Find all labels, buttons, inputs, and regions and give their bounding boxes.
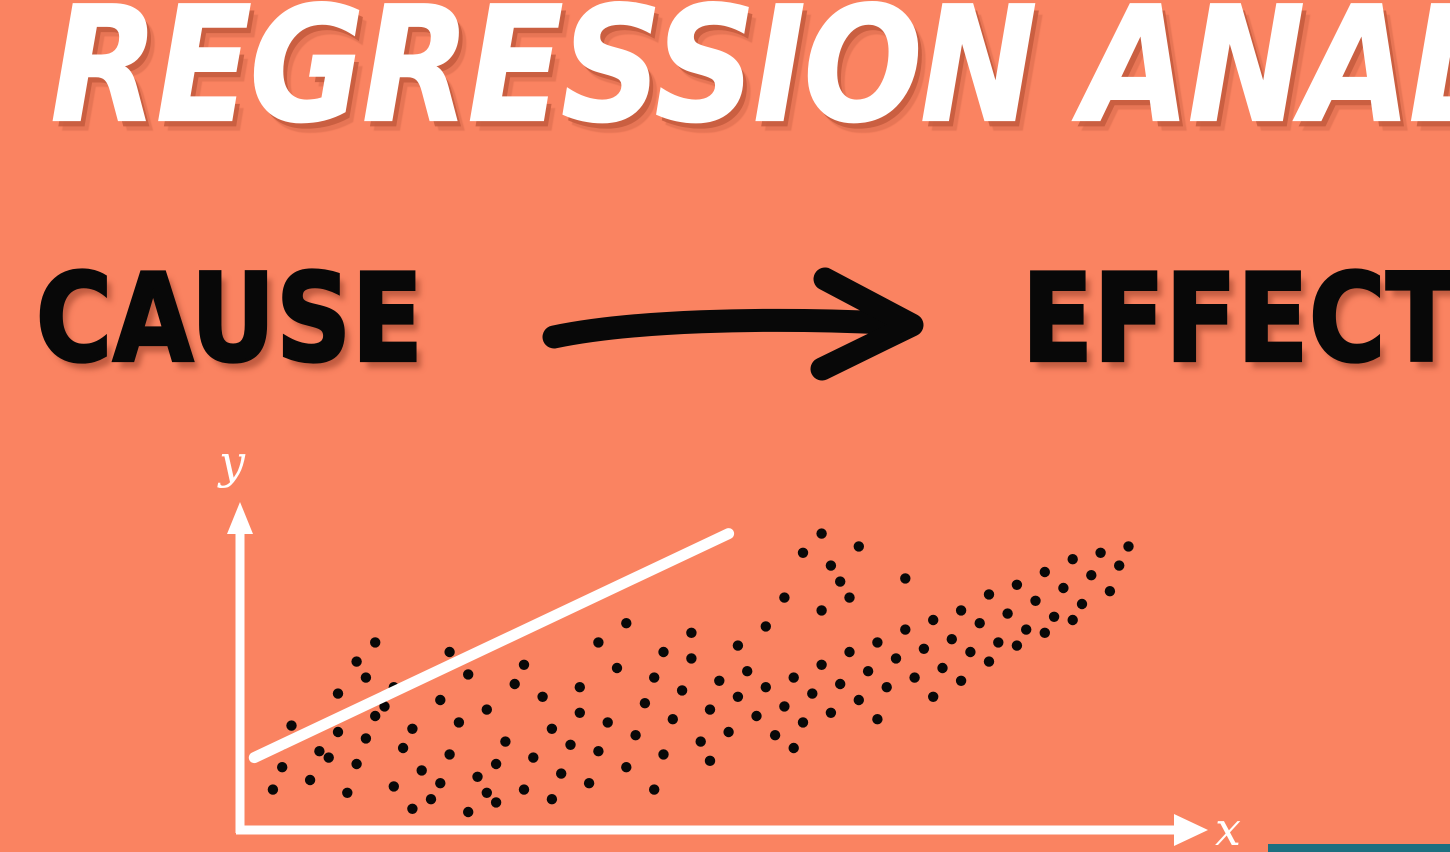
scatter-point [975,618,985,628]
scatter-point [426,794,436,804]
scatter-point [1021,624,1031,634]
regression-trendline [254,534,728,758]
scatter-point [537,692,547,702]
scatter-point [621,618,631,628]
scatter-point [789,672,799,682]
scatter-point [593,746,603,756]
scatter-point [705,756,715,766]
scatter-point [751,711,761,721]
scatter-point [779,701,789,711]
right-arrow-icon [540,263,940,383]
scatter-point [314,746,324,756]
scatter-point [677,685,687,695]
scatter-point [909,672,919,682]
scatter-point [807,688,817,698]
scatter-point [556,768,566,778]
scatter-point [612,663,622,673]
scatter-point [816,528,826,538]
scatter-point [491,759,501,769]
scatter-plot: y x [190,430,1270,852]
scatter-point [370,637,380,647]
scatter-point [324,752,334,762]
scatter-point [798,717,808,727]
page-title: REGRESSION ANALYSIS [51,0,1400,151]
scatter-point [835,679,845,689]
scatter-point [854,541,864,551]
scatter-point [770,730,780,740]
cause-label: CAUSE [36,247,424,393]
scatter-point [1040,567,1050,577]
scatter-point [510,679,520,689]
scatter-point [575,682,585,692]
scatter-point [1068,554,1078,564]
scatter-point [1114,560,1124,570]
scatter-point [900,573,910,583]
scatter-point [658,749,668,759]
scatter-point [444,749,454,759]
scatter-point [528,752,538,762]
scatter-point [370,711,380,721]
x-axis-label: x [1215,802,1241,852]
scatter-point [863,666,873,676]
scatter-point [547,724,557,734]
scatter-point [333,727,343,737]
scatter-point [1068,615,1078,625]
scatter-point [519,660,529,670]
scatter-point [984,589,994,599]
scatter-point [547,794,557,804]
scatter-point [342,788,352,798]
scatter-point [872,637,882,647]
scatter-point [686,653,696,663]
scatter-point [361,672,371,682]
bottom-accent-bar [1268,844,1450,852]
scatter-point [444,647,454,657]
scatter-point [696,736,706,746]
scatter-point [361,733,371,743]
scatter-point [584,778,594,788]
scatter-point [798,548,808,558]
scatter-point [882,682,892,692]
scatter-point [919,644,929,654]
scatter-point [417,765,427,775]
scatter-point [435,778,445,788]
scatter-point [463,807,473,817]
scatter-point [844,592,854,602]
scatter-point [351,759,361,769]
scatter-point [491,797,501,807]
scatter-point [630,730,640,740]
scatter-point [1086,570,1096,580]
scatter-point [268,784,278,794]
scatter-point [1095,548,1105,558]
scatter-point [1002,608,1012,618]
scatter-point [1012,640,1022,650]
scatter-point [286,720,296,730]
scatter-point [816,605,826,615]
scatter-point [816,660,826,670]
scatter-point [1049,612,1059,622]
scatter-point [575,708,585,718]
scatter-point [668,714,678,724]
scatter-point [593,637,603,647]
scatter-point [658,647,668,657]
cause-effect-row: CAUSE EFFECT [0,255,1450,405]
scatter-point [463,669,473,679]
scatter-point [649,784,659,794]
effect-label: EFFECT [1022,247,1450,393]
scatter-point [472,772,482,782]
scatter-point [854,695,864,705]
scatter-point [937,663,947,673]
scatter-point [761,682,771,692]
scatter-point [407,804,417,814]
scatter-point [928,692,938,702]
scatter-point [407,724,417,734]
y-axis-label: y [217,435,246,489]
scatter-point [1123,541,1133,551]
slide-canvas: REGRESSION ANALYSIS CAUSE EFFECT y x [0,0,1450,852]
scatter-point [714,676,724,686]
scatter-points [268,528,1134,817]
scatter-point [305,775,315,785]
scatter-point [565,740,575,750]
scatter-point [742,666,752,676]
scatter-point [733,640,743,650]
scatter-point [900,624,910,634]
scatter-point [277,762,287,772]
scatter-point [872,714,882,724]
scatter-point [965,647,975,657]
scatter-point [482,788,492,798]
plot-axes [227,502,1208,846]
scatter-point [482,704,492,714]
scatter-point [928,615,938,625]
scatter-point [761,621,771,631]
scatter-point [826,708,836,718]
scatter-point [333,688,343,698]
scatter-point [723,727,733,737]
scatter-point [1040,628,1050,638]
scatter-point [705,704,715,714]
scatter-point [826,560,836,570]
scatter-point [686,628,696,638]
scatter-point [984,656,994,666]
scatter-point [351,656,361,666]
scatter-point [621,762,631,772]
scatter-point [947,634,957,644]
scatter-point [993,637,1003,647]
scatter-point [956,676,966,686]
scatter-point [519,784,529,794]
scatter-point [603,717,613,727]
scatter-point [733,692,743,702]
scatter-point [789,743,799,753]
scatter-point [1077,599,1087,609]
scatter-point [835,576,845,586]
scatter-point [435,695,445,705]
scatter-point [1105,586,1115,596]
scatter-point [779,592,789,602]
scatter-point [649,672,659,682]
scatter-point [1058,583,1068,593]
scatter-point [956,605,966,615]
scatter-point [1012,580,1022,590]
scatter-point [640,698,650,708]
scatter-point [389,781,399,791]
scatter-point [891,653,901,663]
scatter-point [398,743,408,753]
scatter-point [844,647,854,657]
scatter-point [500,736,510,746]
scatter-point [1030,596,1040,606]
scatter-point [454,717,464,727]
